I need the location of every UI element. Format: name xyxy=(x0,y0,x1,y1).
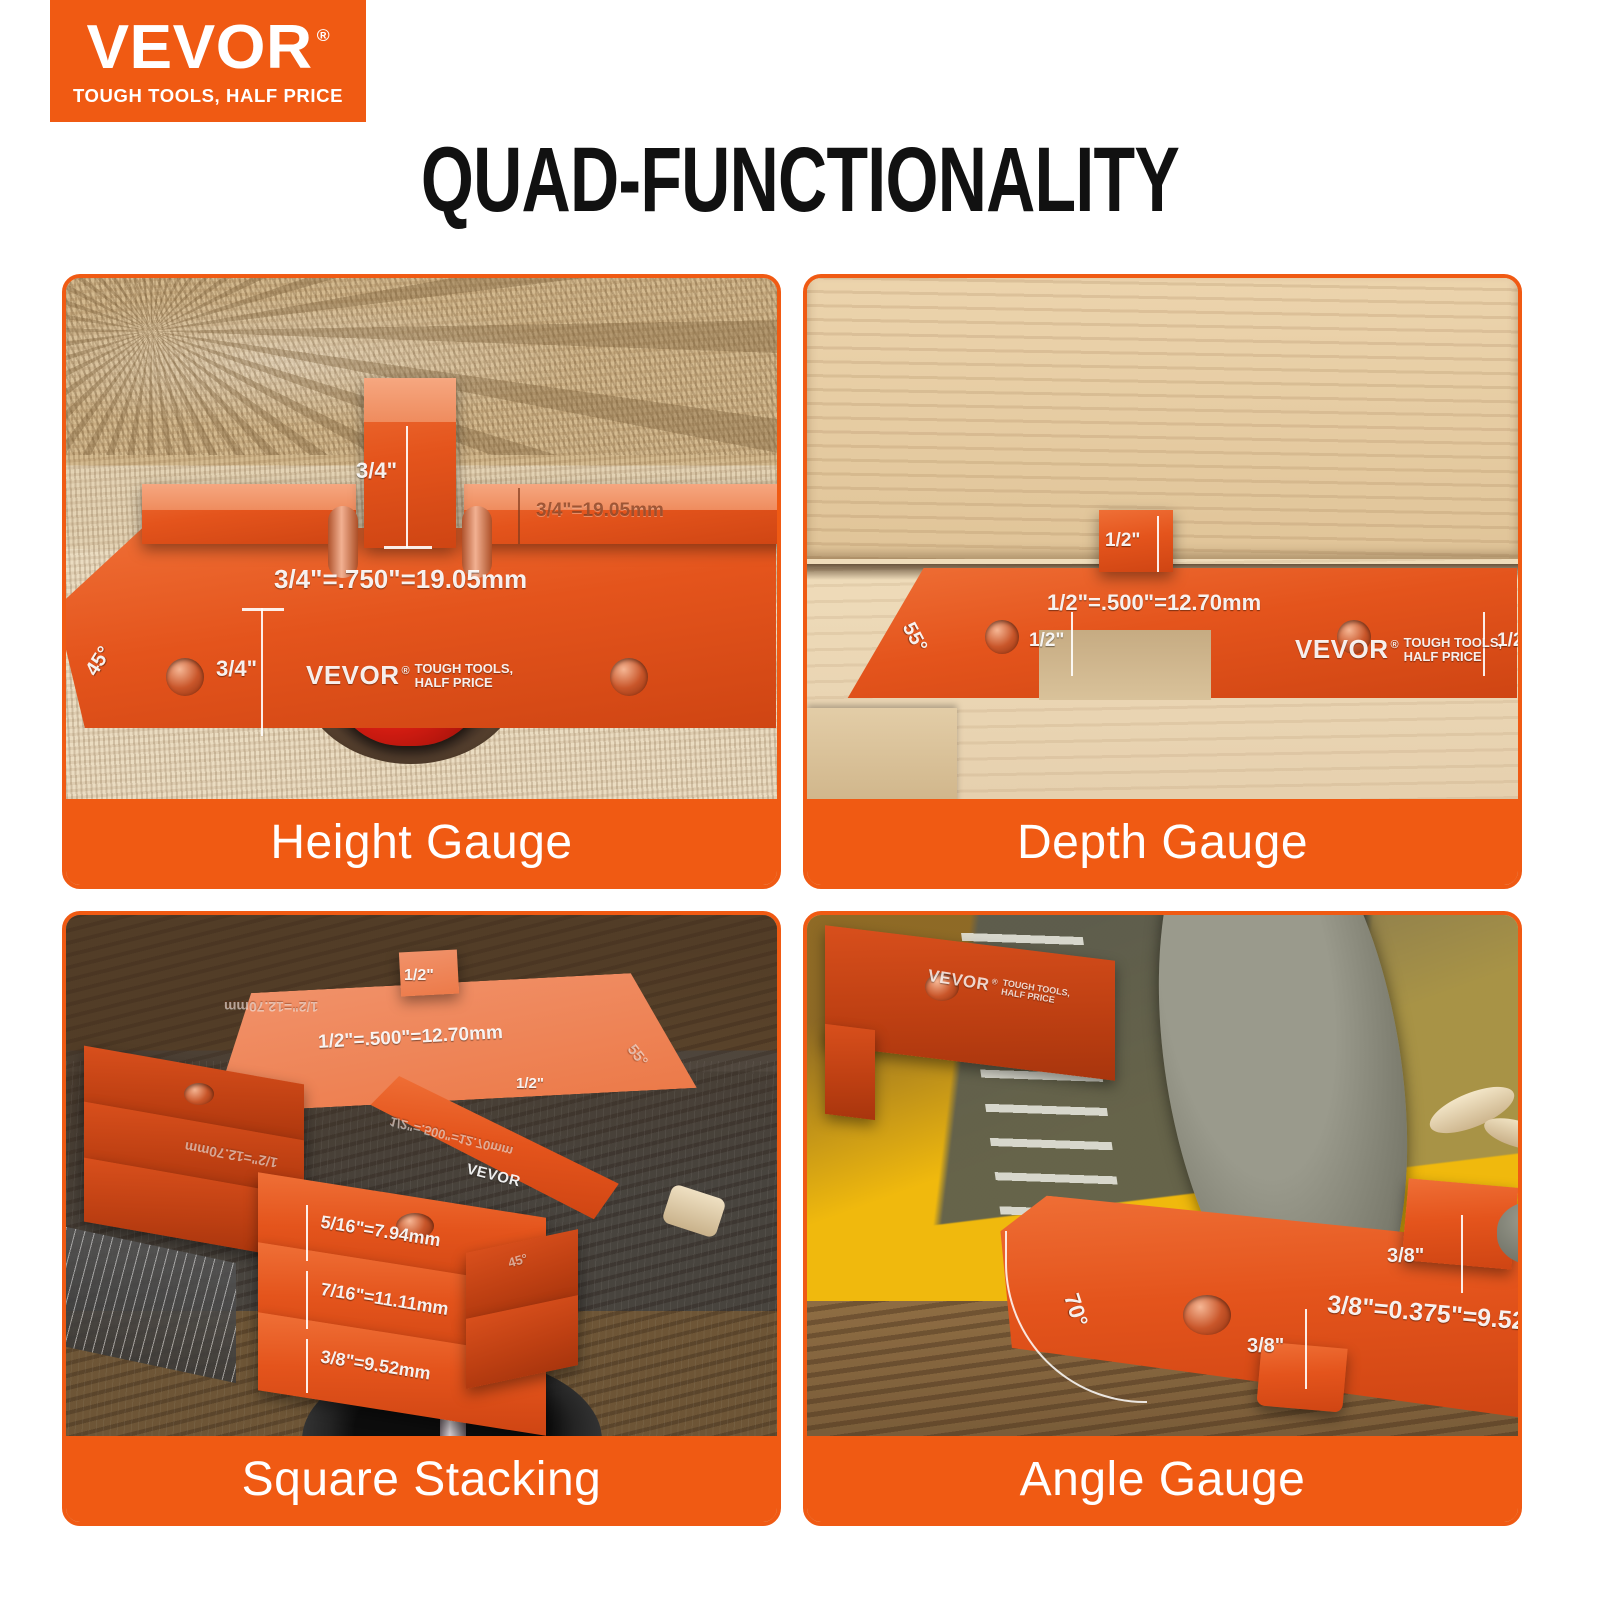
angle-gauge-rear-lip xyxy=(825,1024,875,1120)
plywood-offcut xyxy=(807,708,957,799)
engraved-registered-icon: ® xyxy=(991,976,998,986)
engraved-brand-logo: VEVOR ® TOUGH TOOLS, HALF PRICE xyxy=(1295,634,1502,665)
photo-square-stacking: 1/2" 1/2"=.500"=12.70mm 1/2" 1/2"=12.70m… xyxy=(66,915,777,1436)
height-gauge-top-rail-left xyxy=(142,484,356,544)
marking-angle-3-8-front: 3/8" xyxy=(1247,1335,1284,1358)
marking-angle-3-8-top: 3/8" xyxy=(1387,1245,1424,1268)
marking-stack-mirrored: 1/2"=12.70mm xyxy=(224,999,318,1015)
panel-label-height-gauge: Height Gauge xyxy=(66,799,777,885)
panel-label-angle-gauge: Angle Gauge xyxy=(807,1436,1518,1522)
brand-wordmark: VEVOR ® xyxy=(86,19,330,78)
marking-height-main: 3/4"=.750"=19.05mm xyxy=(274,564,527,595)
panel-depth-gauge: 1/2" 1/2"=.500"=12.70mm 1/2" 55° 1/2" VE… xyxy=(803,274,1522,889)
engraved-tagline-line2: HALF PRICE xyxy=(415,675,493,690)
engraved-tagline-line2: HALF PRICE xyxy=(1404,649,1482,664)
engraved-registered-icon: ® xyxy=(402,665,410,677)
engraved-brand-word: VEVOR xyxy=(1295,634,1389,665)
gauge-top-edge xyxy=(364,378,456,422)
panel-angle-gauge: VEVOR ® TOUGH TOOLS, HALF PRICE 3/8" 3/8… xyxy=(803,911,1522,1526)
dimension-line-vertical xyxy=(1157,516,1159,572)
dimension-tick xyxy=(242,608,284,611)
photo-angle-gauge: VEVOR ® TOUGH TOOLS, HALF PRICE 3/8" 3/8… xyxy=(807,915,1518,1436)
gauge-mounting-hole xyxy=(1183,1295,1231,1335)
photo-depth-gauge: 1/2" 1/2"=.500"=12.70mm 1/2" 55° 1/2" VE… xyxy=(807,278,1518,799)
marking-height-top: 3/4" xyxy=(356,458,397,484)
panel-label-square-stacking: Square Stacking xyxy=(66,1436,777,1522)
dimension-line-vertical xyxy=(306,1271,308,1329)
brand-tagline: TOUGH TOOLS, HALF PRICE xyxy=(73,85,343,107)
panel-square-stacking: 1/2" 1/2"=.500"=12.70mm 1/2" 1/2"=12.70m… xyxy=(62,911,781,1526)
depth-gauge-under-cutout xyxy=(1039,630,1211,700)
marking-depth-main: 1/2"=.500"=12.70mm xyxy=(1047,590,1261,616)
dimension-line-vertical xyxy=(1305,1309,1307,1389)
photo-height-gauge: 3/4" 3/4"=19.05mm 3/4"=.750"=19.05mm 3/4… xyxy=(66,278,777,799)
engraved-brand-word: VEVOR xyxy=(306,660,400,691)
marking-depth-top: 1/2" xyxy=(1105,530,1140,552)
dimension-tick xyxy=(384,546,432,549)
marking-height-lower: 3/4" xyxy=(216,656,257,682)
panel-label-depth-gauge: Depth Gauge xyxy=(807,799,1518,885)
dimension-line-vertical xyxy=(1461,1215,1463,1293)
brand-logo: VEVOR ® TOUGH TOOLS, HALF PRICE xyxy=(50,0,366,122)
brand-wordmark-text: VEVOR xyxy=(86,19,312,78)
page-title: QUAD-FUNCTIONALITY xyxy=(208,128,1392,233)
dimension-line-vertical xyxy=(261,608,263,736)
dimension-line-vertical xyxy=(406,426,408,548)
marking-stack-top: 1/2" xyxy=(404,967,434,985)
dimension-line-vertical xyxy=(306,1339,308,1393)
feature-panel-grid: 3/4" 3/4"=19.05mm 3/4"=.750"=19.05mm 3/4… xyxy=(62,274,1522,1526)
gauge-top-edge xyxy=(142,484,356,510)
dimension-line-vertical xyxy=(518,488,520,544)
dimension-line-vertical xyxy=(1071,612,1073,676)
marking-depth-left: 1/2" xyxy=(1029,630,1064,652)
marking-stack-right: 1/2" xyxy=(516,1075,544,1092)
registered-trademark-icon: ® xyxy=(316,27,329,44)
engraved-registered-icon: ® xyxy=(1391,639,1399,651)
engraved-brand-tagline: TOUGH TOOLS, HALF PRICE xyxy=(1404,636,1502,663)
gauge-mounting-hole xyxy=(166,658,204,696)
panel-height-gauge: 3/4" 3/4"=19.05mm 3/4"=.750"=19.05mm 3/4… xyxy=(62,274,781,889)
gauge-mounting-hole xyxy=(610,658,648,696)
marking-height-right: 3/4"=19.05mm xyxy=(536,500,664,522)
engraved-brand-logo: VEVOR ® TOUGH TOOLS, HALF PRICE xyxy=(306,660,513,691)
engraved-brand-tagline: TOUGH TOOLS, HALF PRICE xyxy=(415,662,513,689)
dimension-line-vertical xyxy=(306,1205,308,1261)
gauge-mounting-hole xyxy=(985,620,1019,654)
gauge-mounting-hole xyxy=(184,1083,214,1105)
